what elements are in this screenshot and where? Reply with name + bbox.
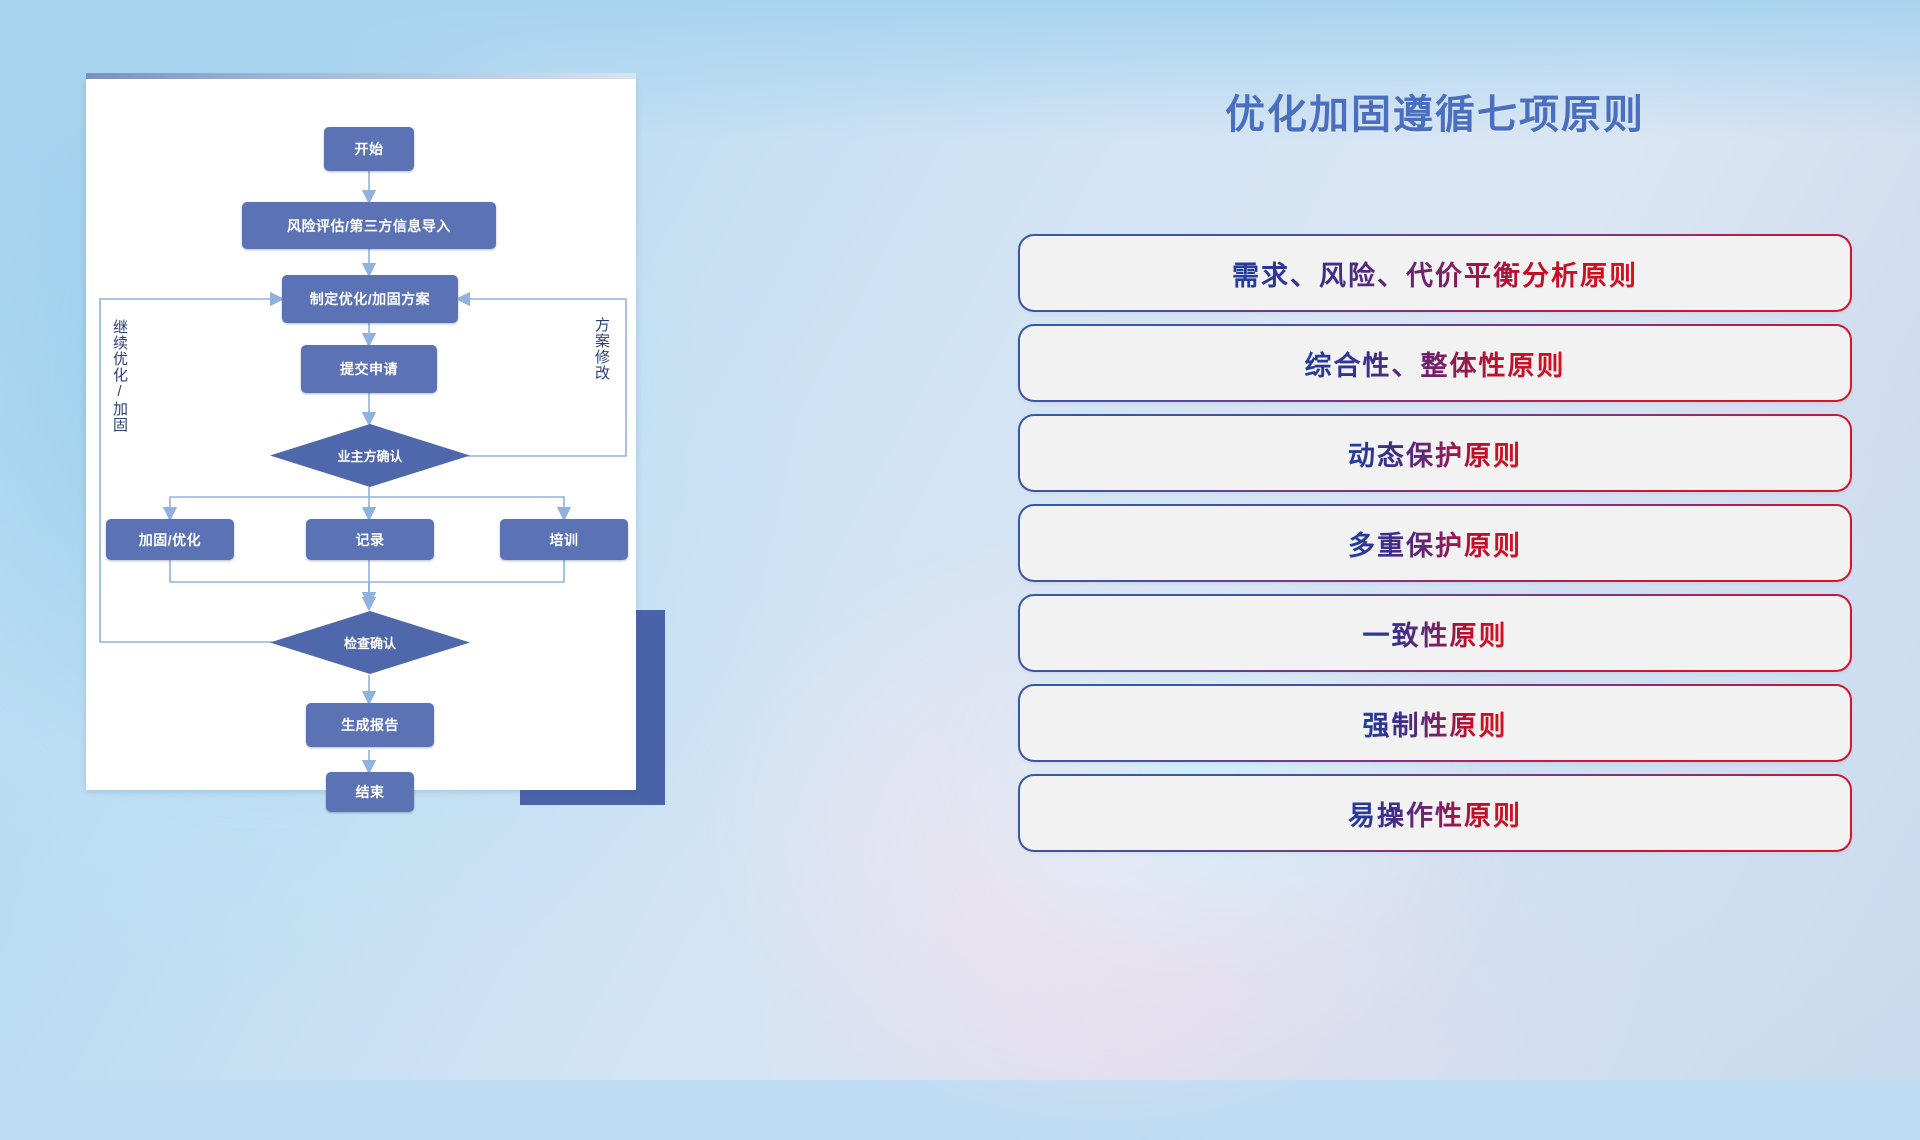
flow-node-risk-assessment[interactable]: 风险评估/第三方信息导入 — [242, 202, 496, 249]
principle-card[interactable]: 强制性原则 — [1020, 686, 1850, 760]
flow-node-end-label: 结束 — [356, 782, 385, 802]
principle-card-label: 动态保护原则 — [1348, 434, 1522, 473]
flow-decision-owner-confirm[interactable]: 业主方确认 — [270, 424, 470, 487]
panel-title: 优化加固遵循七项原则 — [1020, 82, 1850, 140]
flow-node-end[interactable]: 结束 — [326, 772, 414, 812]
principle-card[interactable]: 多重保护原则 — [1020, 506, 1850, 580]
flow-edge-label-plan-revision: 方案修改 — [594, 317, 609, 381]
principle-card-label: 一致性原则 — [1363, 614, 1508, 653]
flow-node-start-label: 开始 — [355, 139, 384, 159]
principle-card[interactable]: 易操作性原则 — [1020, 776, 1850, 850]
flow-decision-check-confirm-label: 检查确认 — [344, 633, 396, 652]
flow-edge-label-continue-optimize: 继续优化/加固 — [112, 319, 127, 433]
principle-card[interactable]: 需求、风险、代价平衡分析原则 — [1020, 236, 1850, 310]
flow-node-generate-report[interactable]: 生成报告 — [306, 703, 434, 747]
flowchart-card: 开始 风险评估/第三方信息导入 制定优化/加固方案 提交申请 业主方确认 加固/… — [86, 79, 636, 790]
principle-card-label: 综合性、整体性原则 — [1305, 344, 1566, 383]
flow-node-training[interactable]: 培训 — [500, 519, 628, 560]
flow-node-generate-report-label: 生成报告 — [341, 715, 399, 735]
flow-decision-owner-confirm-label: 业主方确认 — [337, 446, 402, 465]
principle-card-label: 强制性原则 — [1363, 704, 1508, 743]
flow-node-risk-assessment-label: 风险评估/第三方信息导入 — [287, 216, 451, 236]
principles-list: 需求、风险、代价平衡分析原则 综合性、整体性原则 动态保护原则 多重保护原则 一… — [1020, 236, 1850, 866]
principle-card[interactable]: 综合性、整体性原则 — [1020, 326, 1850, 400]
flow-node-reinforce[interactable]: 加固/优化 — [106, 519, 234, 560]
flow-node-make-plan-label: 制定优化/加固方案 — [310, 289, 430, 309]
principles-panel: 优化加固遵循七项原则 需求、风险、代价平衡分析原则 综合性、整体性原则 动态保护… — [1020, 60, 1850, 1020]
flow-node-training-label: 培训 — [550, 530, 579, 550]
principle-card[interactable]: 一致性原则 — [1020, 596, 1850, 670]
flow-node-reinforce-label: 加固/优化 — [139, 530, 201, 550]
principle-card-label: 需求、风险、代价平衡分析原则 — [1232, 254, 1638, 293]
flow-node-submit-application-label: 提交申请 — [340, 359, 398, 379]
flow-node-record-label: 记录 — [356, 530, 385, 550]
flow-node-record[interactable]: 记录 — [306, 519, 434, 560]
principle-card[interactable]: 动态保护原则 — [1020, 416, 1850, 490]
principle-card-label: 易操作性原则 — [1348, 794, 1522, 833]
flow-decision-check-confirm[interactable]: 检查确认 — [270, 611, 470, 674]
flow-node-start[interactable]: 开始 — [324, 127, 414, 171]
flow-node-submit-application[interactable]: 提交申请 — [301, 345, 437, 393]
flow-node-make-plan[interactable]: 制定优化/加固方案 — [282, 275, 458, 323]
principle-card-label: 多重保护原则 — [1348, 524, 1522, 563]
